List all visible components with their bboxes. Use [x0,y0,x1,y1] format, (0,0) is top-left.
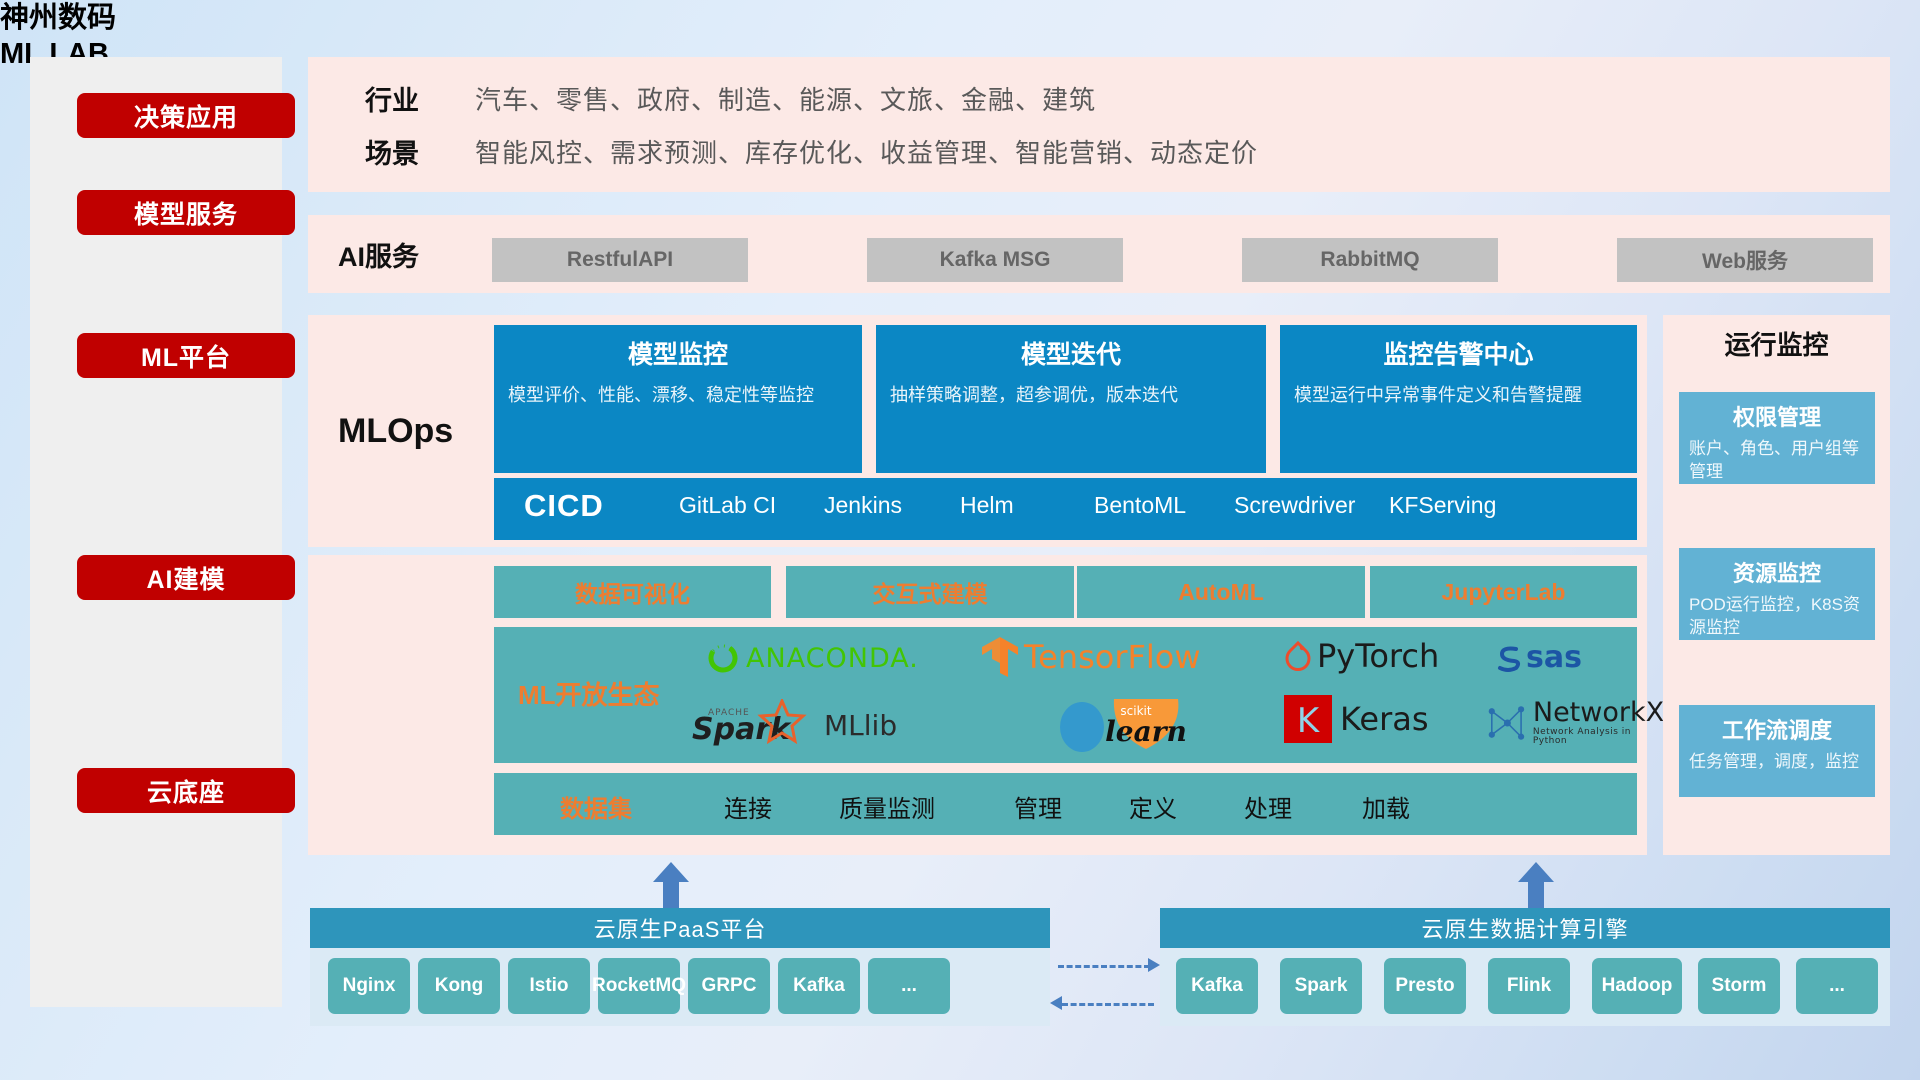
anaconda-logo: ANACONDA. [706,641,919,675]
tool-box-automl[interactable]: AutoML [1077,566,1365,618]
svg-text:K: K [1297,701,1321,741]
engine-chip-flink[interactable]: Flink [1488,958,1570,1014]
card-title: 监控告警中心 [1294,335,1623,371]
paas-chip-grpc[interactable]: GRPC [688,958,770,1014]
rail-item-decision-app[interactable]: 决策应用 [77,93,295,138]
mlops-label: MLOps [338,315,453,547]
paas-chip-istio[interactable]: Istio [508,958,590,1014]
cicd-item-screwdriver[interactable]: Screwdriver [1234,492,1346,518]
cicd-item-bentoml[interactable]: BentoML [1094,492,1206,518]
dataset-item-manage[interactable]: 管理 [1014,789,1062,824]
ai-service-label: AI服务 [338,215,419,293]
engine-chip-more[interactable]: ... [1796,958,1878,1014]
left-rail: 决策应用 模型服务 ML平台 AI建模 云底座 [30,57,282,1007]
pytorch-logo: PyTorch [1284,637,1439,675]
dataset-item-process[interactable]: 处理 [1244,789,1292,824]
svg-text:learn: learn [1105,715,1187,748]
svg-text:APACHE: APACHE [708,708,750,718]
sas-mark [1494,643,1524,673]
keras-wordmark: Keras [1340,700,1429,738]
card-title: 权限管理 [1689,400,1865,432]
engine-chip-kafka[interactable]: Kafka [1176,958,1258,1014]
card-desc: POD运行监控，K8S资源监控 [1689,594,1865,640]
anaconda-mark [706,641,740,675]
card-desc: 账户、角色、用户组等管理 [1689,438,1865,484]
card-desc: 抽样策略调整，超参调优，版本迭代 [890,383,1252,407]
tensorflow-mark [980,635,1020,679]
networkx-mark [1484,701,1529,745]
dash-arrow-left-head [1050,996,1062,1010]
paas-chip-nginx[interactable]: Nginx [328,958,410,1014]
dataset-bar: 数据集 连接 质量监测 管理 定义 处理 加载 [494,773,1637,835]
keras-logo: K Keras [1284,695,1429,743]
tensorflow-logo: TensorFlow [980,635,1201,679]
card-title: 模型监控 [508,335,848,371]
engine-chip-presto[interactable]: Presto [1384,958,1466,1014]
scikit-learn-mark: scikit learn [1054,695,1204,753]
diagram-canvas: 决策应用 模型服务 ML平台 AI建模 云底座 行业 汽车、零售、政府、制造、能… [0,0,1920,1080]
rail-item-cloud-base[interactable]: 云底座 [77,768,295,813]
mlops-card-model-monitoring[interactable]: 模型监控 模型评价、性能、漂移、稳定性等监控 [494,325,862,473]
sas-wordmark: sas [1526,640,1582,675]
paas-chip-rocketmq[interactable]: RocketMQ [598,958,680,1014]
scenario-panel: 行业 汽车、零售、政府、制造、能源、文旅、金融、建筑 场景 智能风控、需求预测、… [308,57,1890,192]
engine-chip-storm[interactable]: Storm [1698,958,1780,1014]
dash-arrow-left [1062,1003,1154,1006]
anaconda-wordmark: ANACONDA. [746,643,919,674]
paas-chip-kafka[interactable]: Kafka [778,958,860,1014]
card-title: 工作流调度 [1689,713,1865,745]
card-title: 模型迭代 [890,335,1252,371]
keras-mark: K [1284,695,1332,743]
rail-item-ai-modeling[interactable]: AI建模 [77,555,295,600]
engine-chip-spark[interactable]: Spark [1280,958,1362,1014]
card-desc: 任务管理，调度，监控 [1689,751,1865,774]
data-engine-title: 云原生数据计算引擎 [1160,908,1890,948]
spark-mllib-logo: Spark APACHE MLlib [690,699,897,751]
industry-label: 行业 [365,79,475,118]
service-box-restful-api[interactable]: RestfulAPI [492,238,748,282]
spark-mark: Spark APACHE [690,699,820,751]
paas-chip-more[interactable]: ... [868,958,950,1014]
cicd-item-helm[interactable]: Helm [960,492,1072,518]
pytorch-mark [1284,639,1312,673]
sas-logo: sas [1494,640,1582,675]
cicd-item-jenkins[interactable]: Jenkins [824,492,936,518]
service-box-web[interactable]: Web服务 [1617,238,1873,282]
runtime-monitor-title: 运行监控 [1663,325,1890,362]
ml-ecosystem-box: ML开放生态 ANACONDA. TensorFlow PyTorch [494,627,1637,763]
dataset-item-quality[interactable]: 质量监测 [839,789,935,824]
networkx-wordmark: NetworkX [1533,699,1665,726]
paas-title: 云原生PaaS平台 [310,908,1050,948]
service-box-kafka-msg[interactable]: Kafka MSG [867,238,1123,282]
scikit-learn-logo: scikit learn [1054,695,1204,753]
card-desc: 模型评价、性能、漂移、稳定性等监控 [508,383,848,407]
ml-ecosystem-title: ML开放生态 [518,675,660,712]
cicd-item-gitlab-ci[interactable]: GitLab CI [679,492,791,518]
mlops-card-alert-center[interactable]: 监控告警中心 模型运行中异常事件定义和告警提醒 [1280,325,1637,473]
dash-arrow-right-head [1148,958,1160,972]
monitor-card-workflow[interactable]: 工作流调度 任务管理，调度，监控 [1679,705,1875,797]
card-title: 资源监控 [1689,556,1865,588]
tool-box-interactive-modeling[interactable]: 交互式建模 [786,566,1074,618]
scenario-label: 场景 [365,132,475,171]
dataset-item-connect[interactable]: 连接 [724,789,772,824]
networkx-logo: NetworkX Network Analysis in Python [1484,699,1665,746]
pytorch-wordmark: PyTorch [1317,637,1439,675]
ml-lab-line1: 神州数码 [0,2,116,34]
dataset-item-define[interactable]: 定义 [1129,789,1177,824]
cicd-title: CICD [524,488,604,524]
industry-values: 汽车、零售、政府、制造、能源、文旅、金融、建筑 [475,80,1096,117]
rail-item-model-service[interactable]: 模型服务 [77,190,295,235]
cicd-item-kfserving[interactable]: KFServing [1389,492,1501,518]
tool-box-data-visualization[interactable]: 数据可视化 [494,566,771,618]
rail-item-ml-platform[interactable]: ML平台 [77,333,295,378]
paas-chip-kong[interactable]: Kong [418,958,500,1014]
mllib-wordmark: MLlib [824,709,897,742]
scenario-values: 智能风控、需求预测、库存优化、收益管理、智能营销、动态定价 [475,133,1258,170]
tool-box-jupyterlab[interactable]: JupyterLab [1370,566,1637,618]
monitor-card-resource[interactable]: 资源监控 POD运行监控，K8S资源监控 [1679,548,1875,640]
mlops-card-model-iteration[interactable]: 模型迭代 抽样策略调整，超参调优，版本迭代 [876,325,1266,473]
service-box-rabbitmq[interactable]: RabbitMQ [1242,238,1498,282]
engine-chip-hadoop[interactable]: Hadoop [1592,958,1682,1014]
dash-arrow-right [1058,965,1150,968]
card-desc: 模型运行中异常事件定义和告警提醒 [1294,383,1623,407]
tensorflow-wordmark: TensorFlow [1024,638,1201,676]
dataset-item-load[interactable]: 加载 [1362,789,1410,824]
cicd-bar: CICD GitLab CI Jenkins Helm BentoML Scre… [494,478,1637,540]
dataset-title: 数据集 [560,789,632,824]
monitor-card-permission[interactable]: 权限管理 账户、角色、用户组等管理 [1679,392,1875,484]
networkx-tagline: Network Analysis in Python [1533,728,1665,746]
